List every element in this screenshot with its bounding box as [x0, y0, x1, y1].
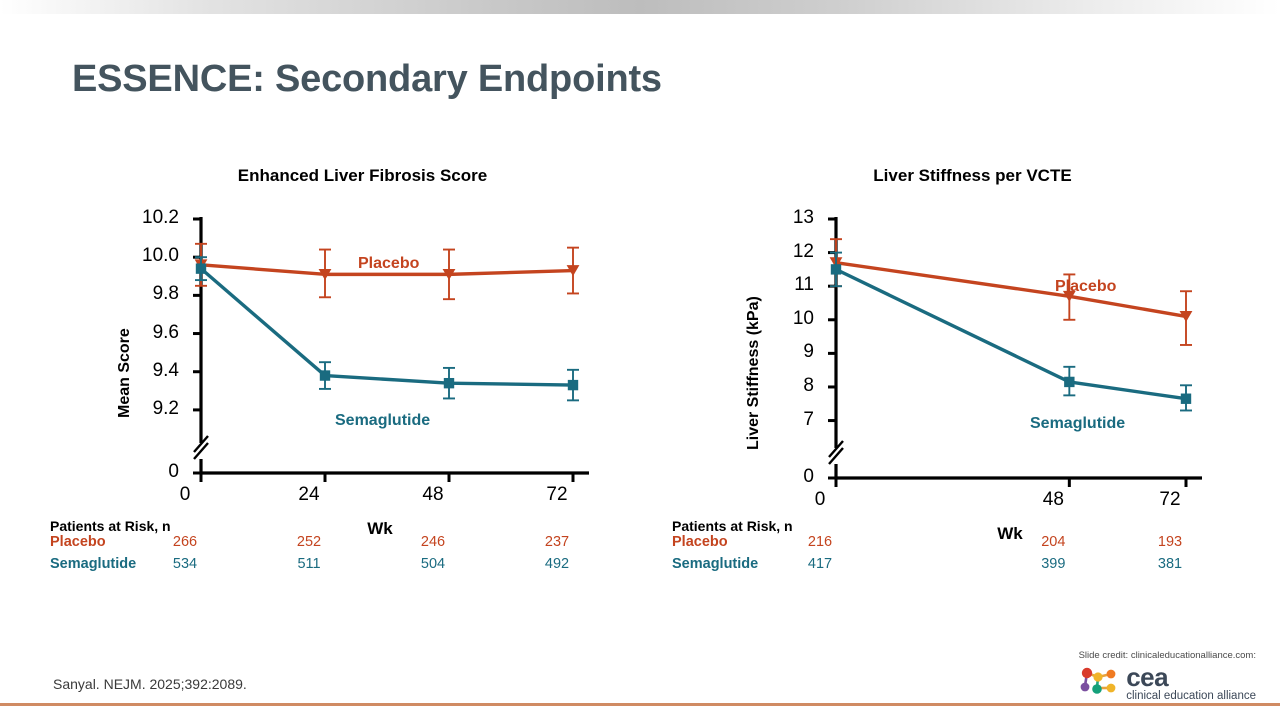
- risk-table-elf: Patients at Risk, n Placebo266252246237S…: [50, 518, 630, 578]
- footer-divider: [0, 703, 1280, 706]
- y-tick-label: 9.8: [127, 284, 179, 303]
- chart-panel-vcte: Liver Stiffness per VCTE Liver Stiffness…: [660, 150, 1250, 550]
- risk-row-label: Placebo: [672, 534, 728, 550]
- risk-row-label: Placebo: [50, 534, 106, 550]
- y-tick-label: 12: [762, 242, 814, 261]
- slide-credit-label: Slide credit: clinicaleducationalliance.…: [1079, 650, 1256, 661]
- plot-area-vcte: [820, 215, 1208, 504]
- series-label-placebo: Placebo: [358, 255, 419, 273]
- risk-cell: 193: [1140, 534, 1200, 550]
- risk-cell: 252: [279, 534, 339, 550]
- y-tick-label: 7: [762, 410, 814, 429]
- risk-cell: 492: [527, 556, 587, 572]
- risk-cell: 511: [279, 556, 339, 572]
- risk-cell: 266: [155, 534, 215, 550]
- chart-title-vcte: Liver Stiffness per VCTE: [660, 166, 1250, 186]
- risk-row: Placebo216204193: [672, 534, 1232, 556]
- cea-wordmark: cea: [1126, 664, 1256, 690]
- slide-root: ESSENCE: Secondary Endpoints Enhanced Li…: [0, 0, 1280, 720]
- series-label-placebo: Placebo: [1055, 278, 1116, 296]
- y-tick-label: 10.0: [127, 246, 179, 265]
- risk-cell: 504: [403, 556, 463, 572]
- y-axis-label-vcte: Liver Stiffness (kPa): [745, 296, 763, 450]
- cea-tagline: clinical education alliance: [1126, 691, 1256, 703]
- chart-panel-elf: Enhanced Liver Fibrosis Score Mean Score…: [40, 150, 640, 550]
- series-label-semaglutide: Semaglutide: [1030, 415, 1125, 433]
- top-gradient-bar: [0, 0, 1280, 14]
- risk-cell: 399: [1023, 556, 1083, 572]
- y-tick-label: 10.2: [127, 208, 179, 227]
- risk-row-label: Semaglutide: [672, 556, 758, 572]
- series-label-semaglutide: Semaglutide: [335, 412, 430, 430]
- risk-cell: 216: [790, 534, 850, 550]
- y-tick-label: 9.2: [127, 399, 179, 418]
- x-tick-label: 24: [279, 485, 339, 504]
- risk-row-label: Semaglutide: [50, 556, 136, 572]
- x-tick-label: 72: [527, 485, 587, 504]
- risk-cell: 417: [790, 556, 850, 572]
- risk-table-header-elf: Patients at Risk, n: [50, 518, 630, 534]
- risk-cell: 381: [1140, 556, 1200, 572]
- y-tick-label: 0: [762, 467, 814, 486]
- risk-cell: 246: [403, 534, 463, 550]
- risk-row: Placebo266252246237: [50, 534, 630, 556]
- risk-cell: 534: [155, 556, 215, 572]
- y-tick-label: 13: [762, 208, 814, 227]
- y-tick-label: 8: [762, 376, 814, 395]
- x-tick-label: 0: [790, 490, 850, 509]
- y-tick-label: 9: [762, 342, 814, 361]
- cea-logo-text: cea clinical education alliance: [1126, 664, 1256, 703]
- chart-title-elf: Enhanced Liver Fibrosis Score: [40, 166, 640, 186]
- citation: Sanyal. NEJM. 2025;392:2089.: [53, 676, 247, 692]
- y-tick-label: 9.4: [127, 361, 179, 380]
- molecule-icon: [1078, 664, 1120, 703]
- y-tick-label: 11: [762, 275, 814, 294]
- page-title: ESSENCE: Secondary Endpoints: [72, 58, 662, 101]
- risk-row: Semaglutide534511504492: [50, 556, 630, 578]
- x-tick-label: 48: [1023, 490, 1083, 509]
- risk-table-vcte: Patients at Risk, n Placebo216204193Sema…: [672, 518, 1232, 578]
- y-tick-label: 10: [762, 309, 814, 328]
- y-tick-label: 9.6: [127, 323, 179, 342]
- risk-cell: 237: [527, 534, 587, 550]
- cea-logo: cea clinical education alliance: [1078, 664, 1256, 703]
- x-tick-label: 48: [403, 485, 463, 504]
- risk-cell: 204: [1023, 534, 1083, 550]
- x-tick-label: 0: [155, 485, 215, 504]
- risk-row: Semaglutide417399381: [672, 556, 1232, 578]
- x-tick-label: 72: [1140, 490, 1200, 509]
- y-tick-label: 0: [127, 462, 179, 481]
- risk-table-header-vcte: Patients at Risk, n: [672, 518, 1232, 534]
